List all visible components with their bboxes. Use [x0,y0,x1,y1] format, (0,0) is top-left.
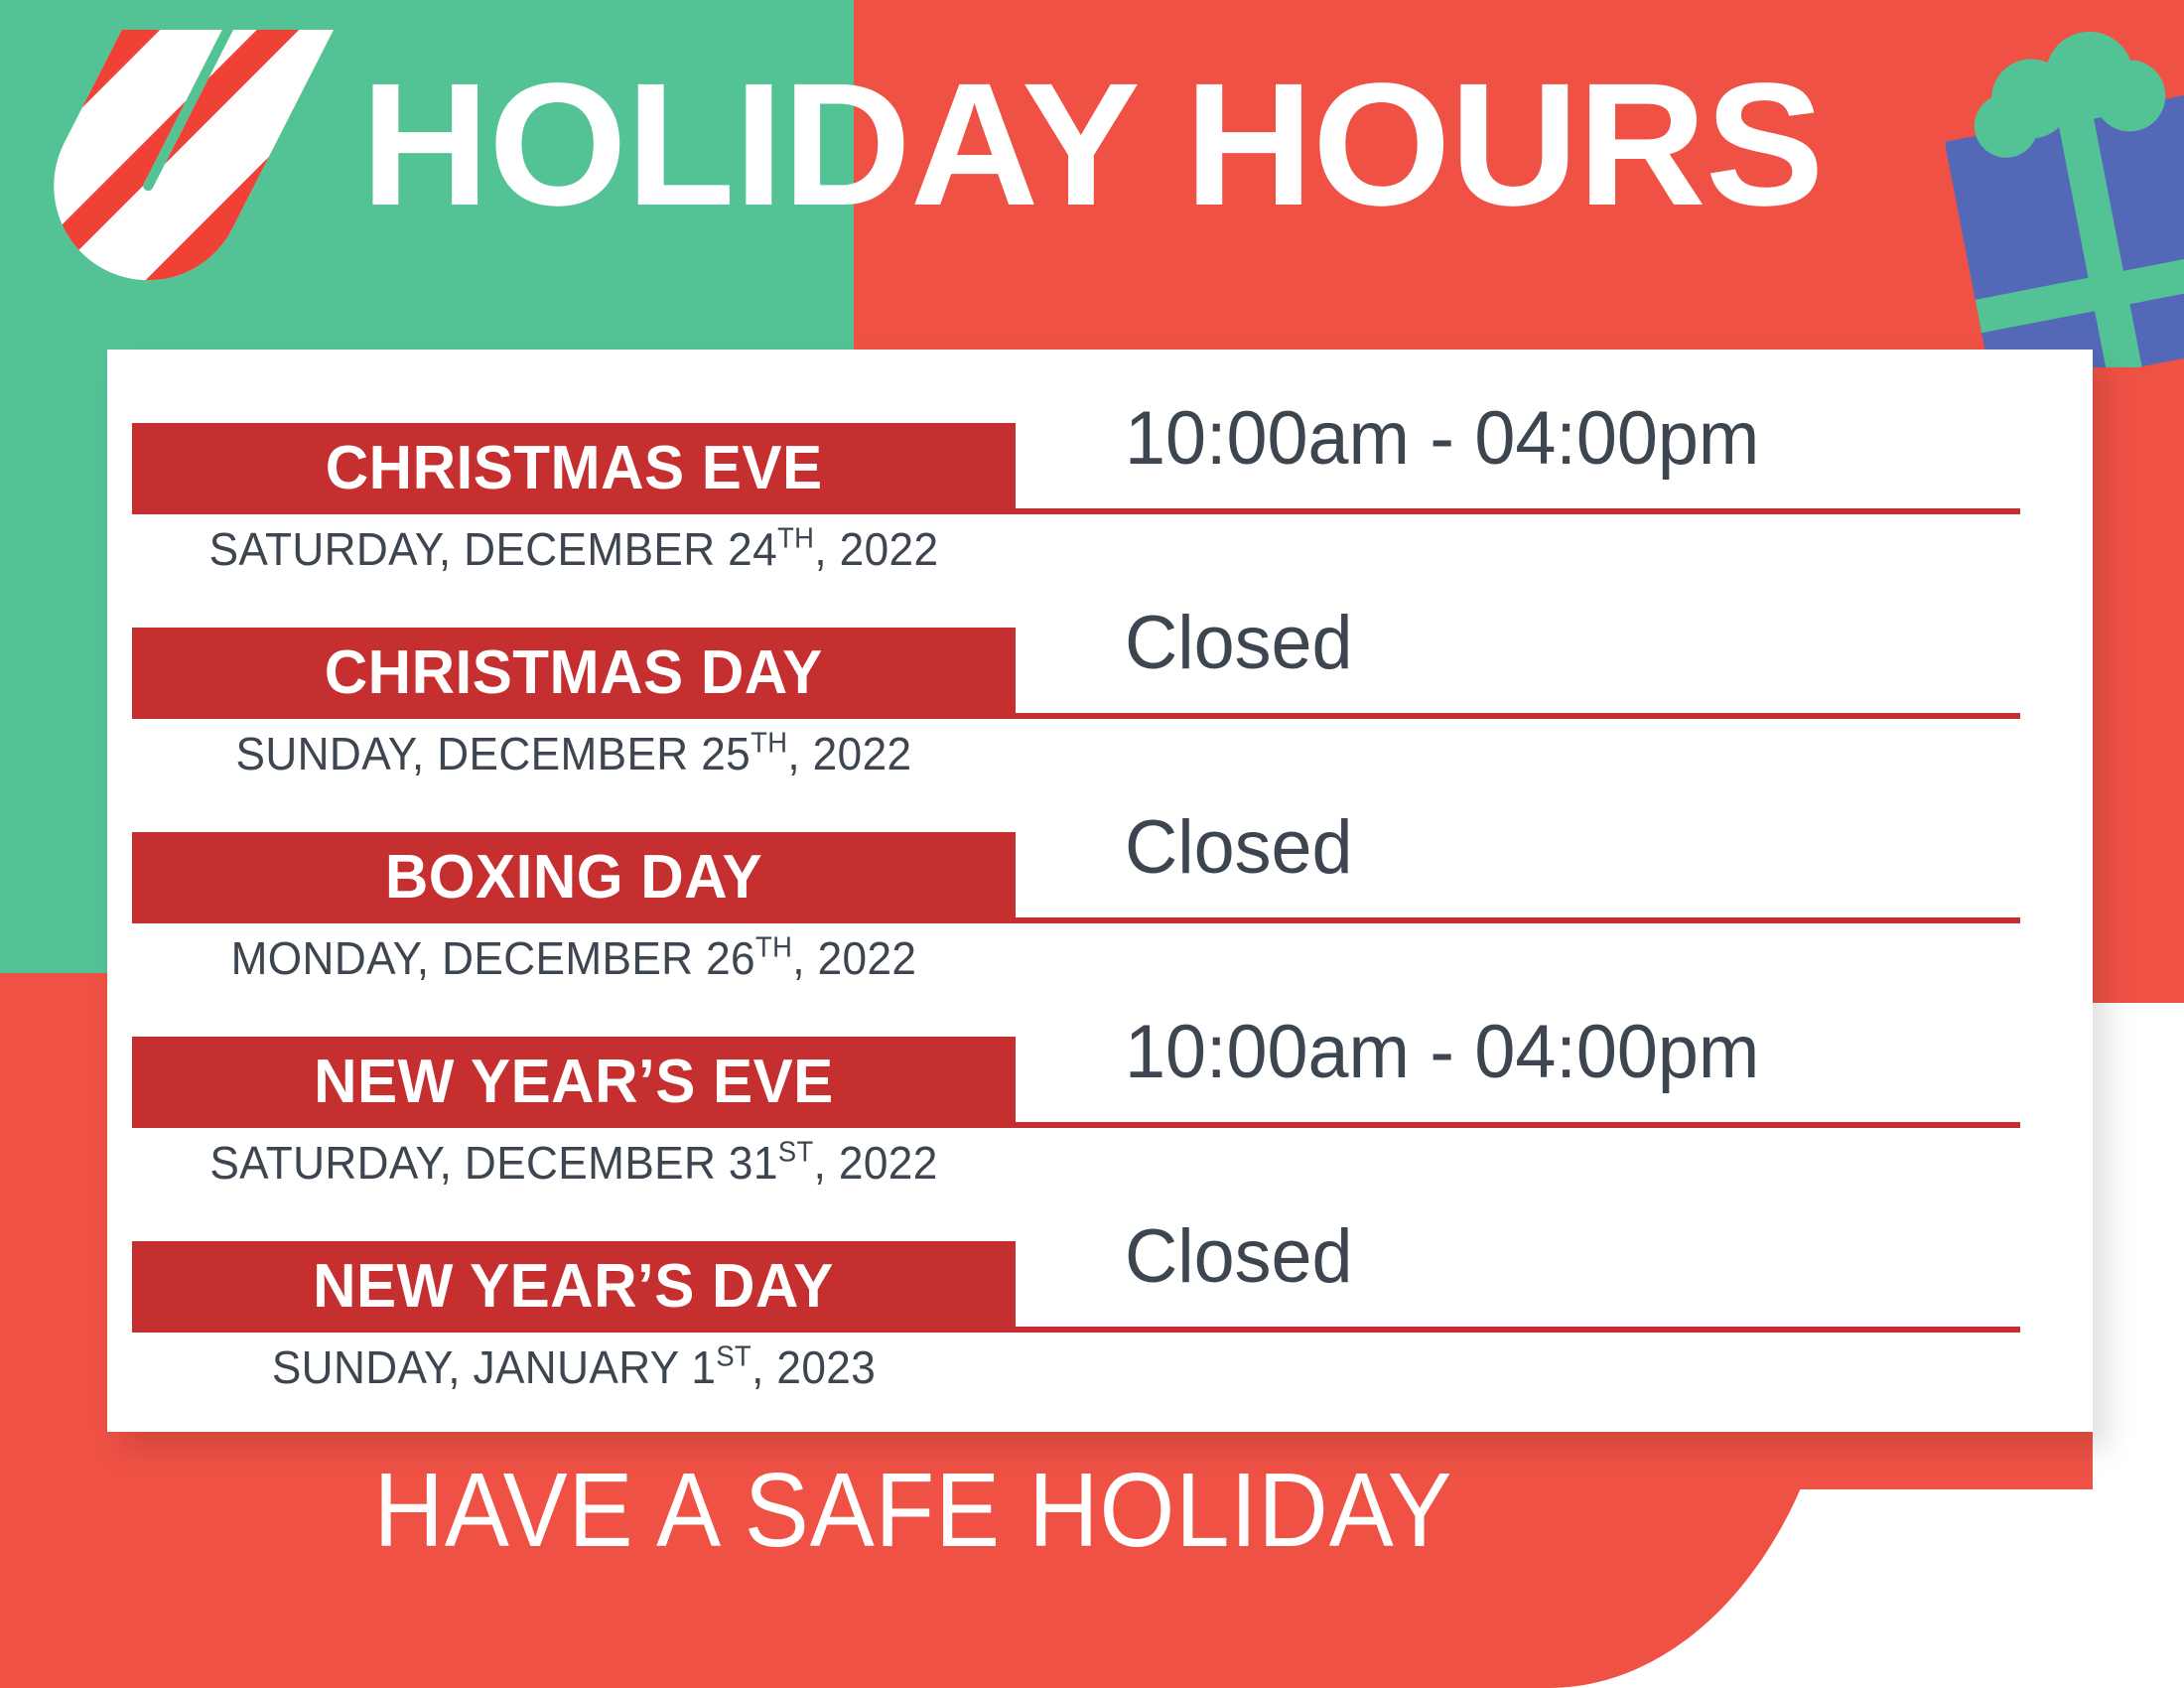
holiday-hours-value: 10:00am - 04:00pm [1125,1015,1991,1090]
holiday-name-band: BOXING DAY [132,832,1016,923]
holiday-date-ordinal: TH [755,931,792,963]
holiday-hours-value: Closed [1125,606,1991,681]
holiday-name-band: NEW YEAR’S DAY [132,1241,1016,1333]
holiday-name-label: NEW YEAR’S DAY [314,1256,835,1318]
schedule-card: CHRISTMAS EVESATURDAY, DECEMBER 24TH, 20… [107,350,2093,1432]
holiday-date-suffix: , 2023 [751,1341,876,1393]
holiday-date-prefix: SUNDAY, JANUARY 1 [272,1341,716,1393]
holiday-date-label: SUNDAY, JANUARY 1ST, 2023 [150,1344,998,1390]
table-row: BOXING DAYMONDAY, DECEMBER 26TH, 2022Clo… [107,759,2093,963]
holiday-name-band: NEW YEAR’S EVE [132,1037,1016,1128]
row-underline [1016,917,2020,923]
row-underline [1016,1122,2020,1128]
holiday-hours-value: 10:00am - 04:00pm [1125,401,1991,477]
row-underline [1016,1327,2020,1333]
table-row: CHRISTMAS EVESATURDAY, DECEMBER 24TH, 20… [107,350,2093,554]
background-white-right-strip [2093,1003,2184,1688]
holiday-date-ordinal: ST [778,1136,814,1168]
holiday-hours-value: Closed [1125,810,1991,886]
row-underline [1016,713,2020,719]
holiday-date-ordinal: TH [751,727,787,759]
schedule-rows: CHRISTMAS EVESATURDAY, DECEMBER 24TH, 20… [107,350,2093,1392]
holiday-date-ordinal: ST [716,1340,751,1372]
holiday-hours-value: Closed [1125,1219,1991,1295]
holiday-hours-poster: HOLIDAY HOURS CHRISTMAS EVESATURDAY, DEC… [0,0,2184,1688]
holiday-name-label: CHRISTMAS DAY [325,642,823,704]
holiday-name-band: CHRISTMAS DAY [132,628,1016,719]
holiday-date-ordinal: TH [777,522,814,554]
holiday-name-band: CHRISTMAS EVE [132,423,1016,514]
holiday-name-label: NEW YEAR’S EVE [314,1052,834,1113]
table-row: NEW YEAR’S DAYSUNDAY, JANUARY 1ST, 2023C… [107,1168,2093,1392]
table-row: NEW YEAR’S EVESATURDAY, DECEMBER 31ST, 2… [107,963,2093,1168]
holiday-name-label: CHRISTMAS EVE [326,438,823,499]
page-title: HOLIDAY HOURS [0,58,2184,232]
row-underline [1016,508,2020,514]
table-row: CHRISTMAS DAYSUNDAY, DECEMBER 25TH, 2022… [107,554,2093,759]
footer-message: HAVE A SAFE HOLIDAY [73,1458,1754,1563]
holiday-name-label: BOXING DAY [385,847,762,909]
